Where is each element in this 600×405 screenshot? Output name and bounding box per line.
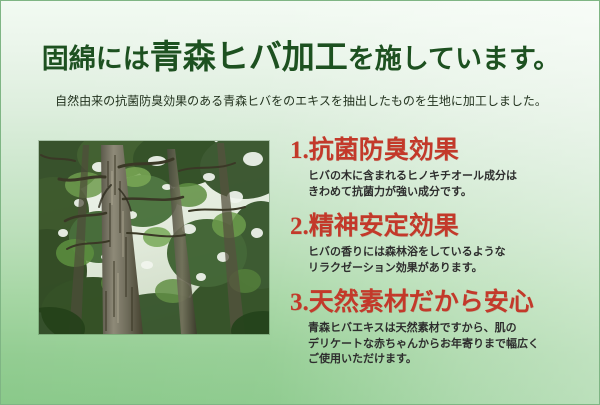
title-prefix: 固綿には [42, 44, 150, 74]
feature-item: 2.精神安定効果 ヒバの香りには森林浴をしているような リラクゼーション効果があ… [290, 212, 595, 276]
feature-heading: 2.精神安定効果 [290, 212, 595, 242]
feature-number: 1. [290, 137, 309, 164]
feature-number: 3. [290, 289, 309, 316]
feature-heading-text: 精神安定効果 [309, 213, 459, 240]
feature-body-line: デリケートな赤ちゃんからお年寄りまで幅広く [308, 337, 595, 353]
feature-body: 青森ヒバエキスは天然素材ですから、肌の デリケートな赤ちゃんからお年寄りまで幅広… [290, 321, 595, 368]
title-emphasis: 青森ヒバ加工 [150, 40, 348, 76]
subtitle: 自然由来の抗菌防臭効果のある青森ヒバをのエキスを抽出したものを生地に加工しました… [1, 93, 600, 110]
feature-list: 1.抗菌防臭効果 ヒバの木に含まれるヒノキチオール成分は きわめて抗菌力が強い成… [290, 136, 595, 368]
hiba-promo-banner: 固綿には青森ヒバ加工を施しています。 自然由来の抗菌防臭効果のある青森ヒバをのエ… [0, 0, 600, 405]
feature-body: ヒバの木に含まれるヒノキチオール成分は きわめて抗菌力が強い成分です。 [290, 169, 595, 200]
feature-heading: 1.抗菌防臭効果 [290, 136, 595, 166]
forest-photo-illustration [39, 141, 269, 334]
feature-body-line: ご使用いただけます。 [308, 352, 595, 368]
feature-heading: 3.天然素材だから安心 [290, 288, 595, 318]
feature-item: 1.抗菌防臭効果 ヒバの木に含まれるヒノキチオール成分は きわめて抗菌力が強い成… [290, 136, 595, 200]
feature-item: 3.天然素材だから安心 青森ヒバエキスは天然素材ですから、肌の デリケートな赤ち… [290, 288, 595, 368]
title-suffix: を施しています。 [348, 44, 561, 74]
page-title: 固綿には青森ヒバ加工を施しています。 [1, 41, 600, 76]
feature-body: ヒバの香りには森林浴をしているような リラクゼーション効果があります。 [290, 245, 595, 276]
feature-body-line: リラクゼーション効果があります。 [308, 261, 595, 277]
feature-heading-text: 抗菌防臭効果 [309, 137, 459, 164]
feature-body-line: きわめて抗菌力が強い成分です。 [308, 185, 595, 201]
feature-body-line: ヒバの香りには森林浴をしているような [308, 245, 595, 261]
hiba-forest-photo [39, 141, 269, 334]
feature-body-line: ヒバの木に含まれるヒノキチオール成分は [308, 169, 595, 185]
feature-body-line: 青森ヒバエキスは天然素材ですから、肌の [308, 321, 595, 337]
feature-heading-text: 天然素材だから安心 [309, 289, 534, 316]
feature-number: 2. [290, 213, 309, 240]
